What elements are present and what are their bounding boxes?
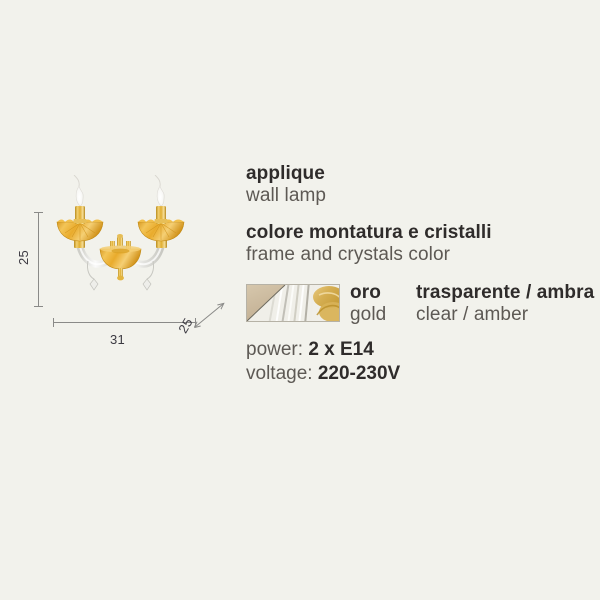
voltage-value: 220-230V bbox=[318, 363, 400, 384]
frame-color-it: oro bbox=[350, 282, 406, 304]
crystal-color-en: clear / amber bbox=[416, 304, 594, 326]
power-label: power: bbox=[246, 339, 303, 360]
frame-color-en: gold bbox=[350, 304, 406, 326]
product-drawing-panel: 25 31 25 bbox=[0, 150, 240, 380]
height-dimension-cap-bottom bbox=[34, 306, 43, 307]
width-dimension-line bbox=[53, 322, 196, 323]
color-swatch-row: oro gold trasparente / ambra clear / amb… bbox=[246, 281, 598, 327]
product-name-block: applique wall lamp bbox=[246, 163, 598, 208]
height-dimension-label: 25 bbox=[16, 250, 31, 265]
width-dimension-cap-left bbox=[53, 318, 54, 327]
product-name-en: wall lamp bbox=[246, 185, 598, 207]
height-dimension-cap-top bbox=[34, 212, 43, 213]
height-dimension-line bbox=[38, 212, 39, 307]
gold-and-amber-crystal-swatch bbox=[246, 284, 340, 322]
frame-color-labels: oro gold bbox=[350, 281, 406, 327]
center-wall-mount bbox=[100, 234, 141, 280]
color-section-heading: colore montatura e cristalli frame and c… bbox=[246, 222, 598, 267]
voltage-spec-line: voltage: 220-230V bbox=[246, 362, 598, 385]
left-candle-head bbox=[57, 175, 103, 248]
voltage-label: voltage: bbox=[246, 363, 313, 384]
color-section-title-en: frame and crystals color bbox=[246, 244, 598, 266]
width-dimension-label: 31 bbox=[110, 332, 125, 347]
product-name-it: applique bbox=[246, 163, 598, 185]
power-spec-line: power: 2 x E14 bbox=[246, 338, 598, 361]
crystal-color-it: trasparente / ambra bbox=[416, 282, 594, 304]
power-value: 2 x E14 bbox=[308, 339, 374, 360]
specification-panel: applique wall lamp colore montatura e cr… bbox=[246, 163, 598, 385]
electrical-specs: power: 2 x E14 voltage: 220-230V bbox=[246, 338, 598, 384]
wall-lamp-illustration bbox=[38, 175, 203, 315]
product-spec-sheet: 25 31 25 applique wall lamp bbox=[0, 0, 600, 600]
depth-dimension-line bbox=[190, 298, 232, 336]
color-section-title-it: colore montatura e cristalli bbox=[246, 222, 598, 244]
right-candle-head bbox=[138, 175, 184, 248]
crystal-color-labels: trasparente / ambra clear / amber bbox=[416, 281, 594, 327]
